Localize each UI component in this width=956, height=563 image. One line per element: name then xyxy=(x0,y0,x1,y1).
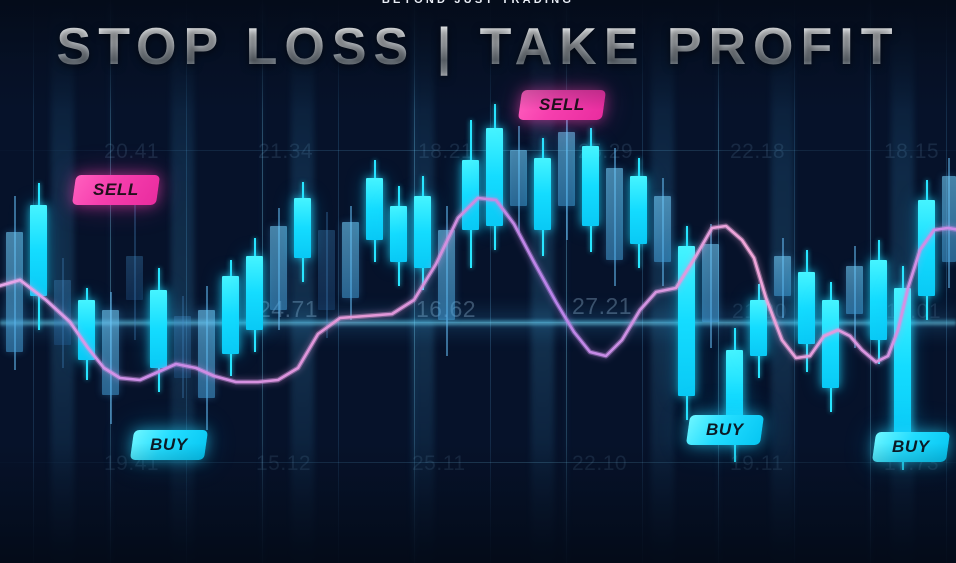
kicker-text: BEYOND JUST TRADING xyxy=(0,0,956,6)
signal-badge-label: SELL xyxy=(93,180,139,200)
sell-signal-badge[interactable]: SELL xyxy=(72,175,160,205)
signal-badge-label: BUY xyxy=(706,420,744,440)
trading-chart-banner: 20.4121.3418.2125.2922.1818.1524.7116.62… xyxy=(0,0,956,563)
page-title: STOP LOSS | TAKE PROFIT xyxy=(0,17,956,77)
buy-signal-badge[interactable]: BUY xyxy=(686,415,764,445)
bottom-vignette xyxy=(0,443,956,563)
